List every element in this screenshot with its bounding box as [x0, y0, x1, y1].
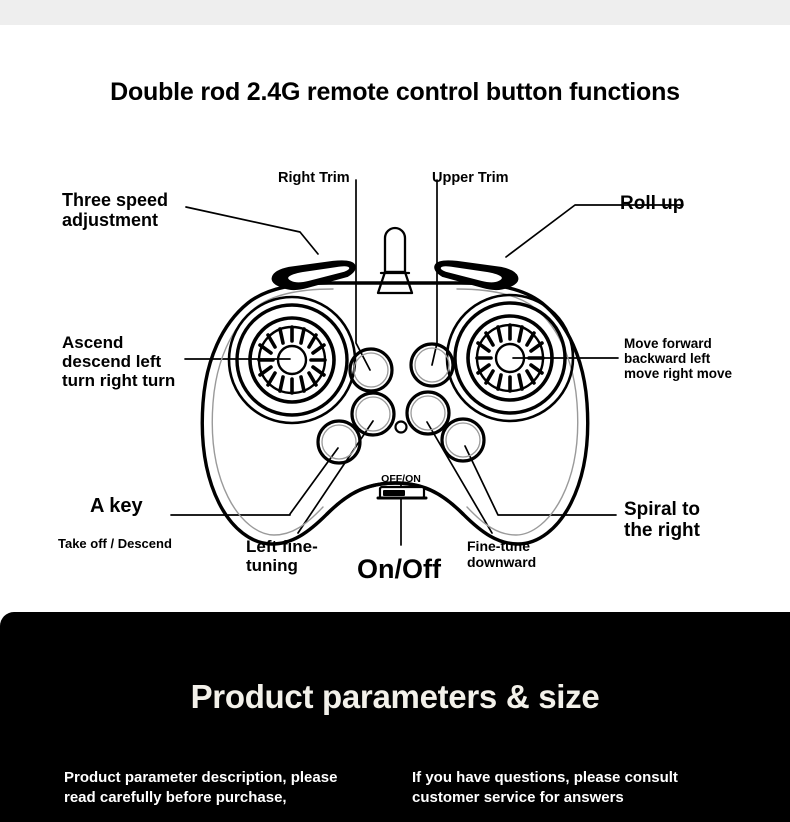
power-switch	[378, 487, 426, 498]
indicator-led	[396, 422, 407, 433]
left-joystick	[229, 297, 355, 423]
callout-right-trim: Right Trim	[278, 170, 350, 186]
top-gray-band	[0, 0, 790, 25]
callout-fine-tune-downward: Fine-tune downward	[467, 539, 536, 570]
fine-tune-downward-button	[407, 392, 449, 434]
footer-note-right: If you have questions, please consult cu…	[412, 768, 678, 809]
callout-take-off-descend: Take off / Descend	[58, 537, 172, 552]
footer-note-left: Product parameter description, please re…	[64, 768, 337, 809]
callout-upper-trim: Upper Trim	[432, 170, 509, 186]
callout-a-key: A key	[90, 495, 143, 517]
callout-roll-up: Roll up	[620, 193, 684, 214]
left-fine-tuning-button	[352, 393, 394, 435]
callout-move-forward: Move forward backward left move right mo…	[624, 336, 732, 381]
product-detail-page: Double rod 2.4G remote control button fu…	[0, 0, 790, 822]
spiral-right-button	[442, 419, 484, 461]
callout-ascend-descend: Ascend descend left turn right turn	[62, 333, 175, 390]
callout-left-fine-tuning: Left fine- tuning	[246, 537, 318, 575]
callout-on-off: On/Off	[357, 554, 441, 584]
switch-marking-text: OFF/ON	[381, 473, 421, 485]
a-key-button	[318, 421, 360, 463]
callout-three-speed-adjustment: Three speed adjustment	[62, 190, 168, 230]
callout-spiral-to-the-right: Spiral to the right	[624, 499, 700, 542]
right-trim-button	[350, 349, 392, 391]
product-parameters-section: Product parameters & size Product parame…	[0, 612, 790, 822]
diagram-panel: Double rod 2.4G remote control button fu…	[0, 25, 790, 612]
section-heading: Product parameters & size	[0, 678, 790, 716]
